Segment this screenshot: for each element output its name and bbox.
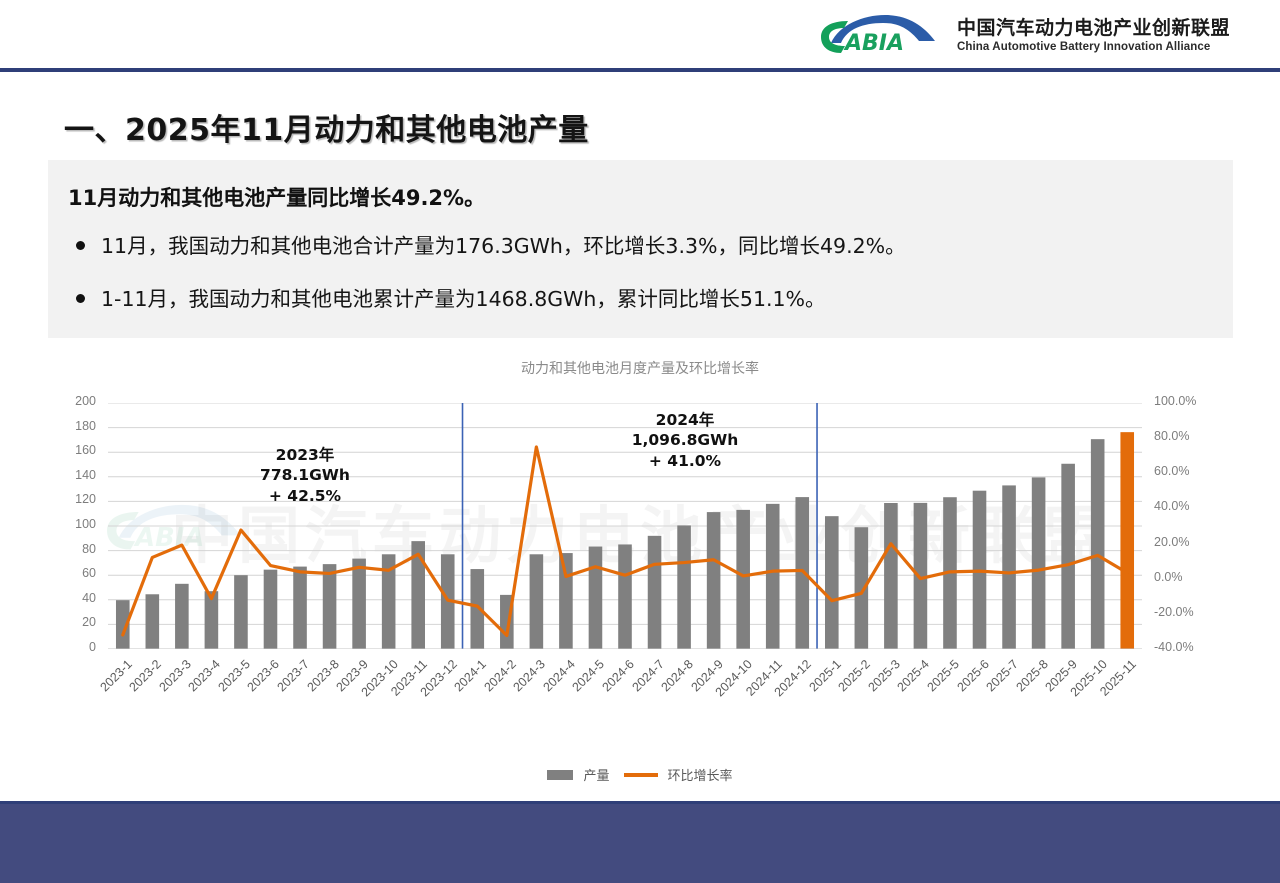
y-axis-tick-right: 0.0% — [1154, 570, 1183, 584]
y-axis-tick-right: 40.0% — [1154, 499, 1189, 513]
org-name-en: China Automotive Battery Innovation Alli… — [957, 41, 1230, 53]
y-axis-tick-right: -40.0% — [1154, 640, 1194, 654]
chart-bar — [677, 525, 691, 649]
legend-bar-swatch — [547, 770, 573, 780]
annotation-2024: 2024年 1,096.8GWh + 41.0% — [600, 410, 770, 471]
legend-line-label: 环比增长率 — [668, 765, 733, 784]
summary-panel: 11月动力和其他电池产量同比增长49.2%。 11月，我国动力和其他电池合计产量… — [48, 160, 1233, 338]
header-divider — [0, 68, 1280, 72]
y-axis-tick-left: 160 — [50, 443, 96, 457]
summary-headline: 11月动力和其他电池产量同比增长49.2%。 — [68, 182, 485, 212]
annotation-2024-line2: 1,096.8GWh — [600, 430, 770, 450]
chart-bar — [1032, 477, 1046, 649]
summary-bullet-2-text: 1-11月，我国动力和其他电池累计产量为1468.8GWh，累计同比增长51.1… — [101, 282, 826, 312]
chart-legend: 产量 环比增长率 — [0, 765, 1280, 784]
organization-name: 中国汽车动力电池产业创新联盟 China Automotive Battery … — [957, 13, 1230, 53]
chart-bar — [707, 512, 721, 649]
y-axis-tick-left: 140 — [50, 468, 96, 482]
annotation-2023-line1: 2023年 — [230, 445, 380, 465]
y-axis-tick-left: 80 — [50, 542, 96, 556]
summary-bullet-1: 11月，我国动力和其他电池合计产量为176.3GWh，环比增长3.3%，同比增长… — [76, 229, 906, 259]
annotation-2023-line3: + 42.5% — [230, 486, 380, 506]
y-axis-tick-left: 40 — [50, 591, 96, 605]
chart-bar — [1002, 485, 1016, 649]
svg-text:ABIA: ABIA — [843, 31, 904, 56]
annotation-2023: 2023年 778.1GWh + 42.5% — [230, 445, 380, 506]
bullet-dot-icon — [76, 294, 85, 303]
summary-bullet-1-text: 11月，我国动力和其他电池合计产量为176.3GWh，环比增长3.3%，同比增长… — [101, 229, 906, 259]
chart-bar — [1061, 464, 1075, 649]
chart-bar — [264, 570, 278, 649]
legend-line-swatch — [624, 773, 658, 777]
chart-bar — [589, 547, 603, 649]
annotation-2024-line3: + 41.0% — [600, 451, 770, 471]
y-axis-tick-left: 100 — [50, 517, 96, 531]
y-axis-tick-left: 180 — [50, 419, 96, 433]
page-title: 一、2025年11月动力和其他电池产量 — [64, 105, 589, 149]
chart-title: 动力和其他电池月度产量及环比增长率 — [0, 358, 1280, 378]
y-axis-tick-left: 0 — [50, 640, 96, 654]
y-axis-tick-right: 100.0% — [1154, 394, 1196, 408]
chart-bar — [618, 544, 632, 649]
chart-bar — [884, 503, 898, 649]
organization-logo-block: ABIA 中国汽车动力电池产业创新联盟 China Automotive Bat… — [815, 9, 1230, 57]
chart-bar — [825, 516, 839, 649]
chart-bar — [1120, 432, 1134, 649]
annotation-2024-line1: 2024年 — [600, 410, 770, 430]
page-header: ABIA 中国汽车动力电池产业创新联盟 China Automotive Bat… — [0, 0, 1280, 68]
chart-bar — [323, 564, 337, 649]
chart-bar — [175, 584, 189, 649]
y-axis-tick-left: 200 — [50, 394, 96, 408]
chart-bar — [736, 510, 750, 649]
cabia-logo-icon: ABIA — [815, 9, 943, 57]
y-axis-tick-right: -20.0% — [1154, 605, 1194, 619]
chart-bar — [1091, 439, 1105, 649]
y-axis-tick-left: 20 — [50, 615, 96, 629]
chart-bar — [559, 553, 573, 649]
y-axis-tick-right: 80.0% — [1154, 429, 1189, 443]
chart-container: 动力和其他电池月度产量及环比增长率 ABIA 中国汽车动力电池产业创新联盟 20… — [0, 345, 1280, 805]
annotation-2023-line2: 778.1GWh — [230, 465, 380, 485]
org-name-cn: 中国汽车动力电池产业创新联盟 — [957, 13, 1230, 40]
y-axis-tick-right: 20.0% — [1154, 535, 1189, 549]
summary-bullet-2: 1-11月，我国动力和其他电池累计产量为1468.8GWh，累计同比增长51.1… — [76, 282, 826, 312]
chart-bar — [293, 567, 307, 649]
y-axis-tick-left: 120 — [50, 492, 96, 506]
bullet-dot-icon — [76, 241, 85, 250]
chart-bar — [766, 504, 780, 649]
chart-bar — [648, 536, 662, 649]
chart-bar — [352, 559, 366, 649]
y-axis-tick-left: 60 — [50, 566, 96, 580]
legend-bar-label: 产量 — [583, 765, 609, 784]
y-axis-tick-right: 60.0% — [1154, 464, 1189, 478]
chart-bar — [530, 554, 544, 649]
chart-bar — [146, 594, 160, 649]
page-footer — [0, 804, 1280, 883]
chart-bar — [234, 575, 248, 649]
